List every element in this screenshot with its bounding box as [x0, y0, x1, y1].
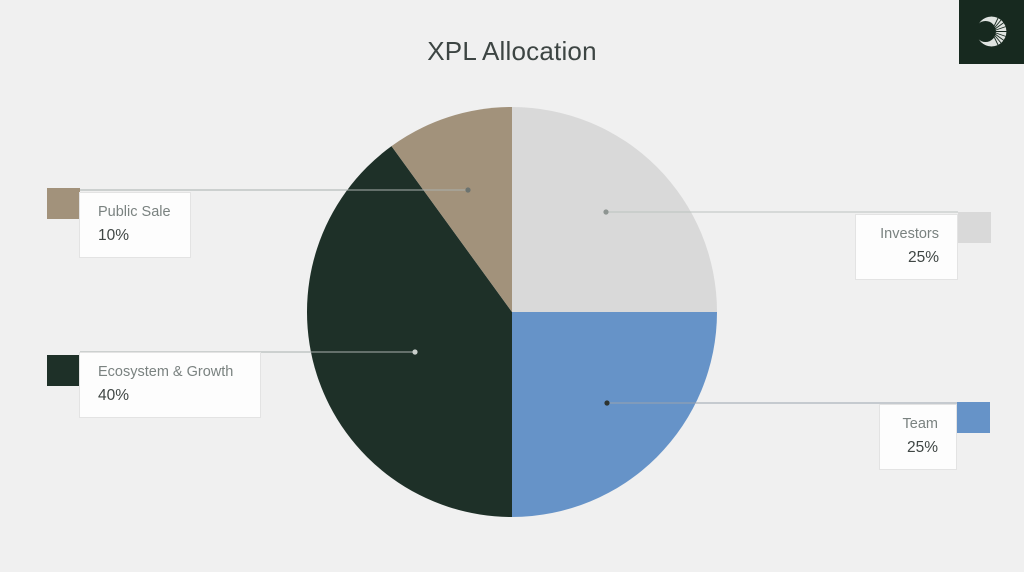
- callout-label-ecosystem: Ecosystem & Growth: [98, 363, 246, 383]
- legend-swatch-public-sale: [47, 188, 80, 219]
- pie-slice-team[interactable]: [512, 312, 717, 517]
- leader-dot-investors: [603, 209, 608, 214]
- callout-label-investors: Investors: [870, 225, 939, 245]
- leader-dot-team: [604, 400, 609, 405]
- callout-ecosystem[interactable]: Ecosystem & Growth 40%: [79, 352, 261, 418]
- legend-swatch-ecosystem: [47, 355, 80, 386]
- callout-public-sale[interactable]: Public Sale 10%: [79, 192, 191, 258]
- leader-dot-ecosystem: [412, 349, 417, 354]
- callout-investors[interactable]: Investors 25%: [855, 214, 958, 280]
- chart-canvas: XPL Allocation Public Sale 10% Ecosystem…: [0, 0, 1024, 572]
- pie-slices: [307, 107, 717, 517]
- callout-label-public-sale: Public Sale: [98, 203, 176, 223]
- callout-team[interactable]: Team 25%: [879, 404, 957, 470]
- callout-value-investors: 25%: [870, 248, 939, 269]
- legend-swatch-team: [957, 402, 990, 433]
- brand-logo-tile[interactable]: [959, 0, 1024, 64]
- legend-swatch-investors: [958, 212, 991, 243]
- callout-label-team: Team: [894, 415, 938, 435]
- callout-value-team: 25%: [894, 438, 938, 459]
- pie-chart: [0, 0, 1024, 572]
- eclipse-crescent-icon: [972, 12, 1011, 51]
- leader-dot-public-sale: [465, 187, 470, 192]
- callout-value-ecosystem: 40%: [98, 386, 246, 407]
- pie-slice-investors[interactable]: [512, 107, 717, 312]
- callout-value-public-sale: 10%: [98, 226, 176, 247]
